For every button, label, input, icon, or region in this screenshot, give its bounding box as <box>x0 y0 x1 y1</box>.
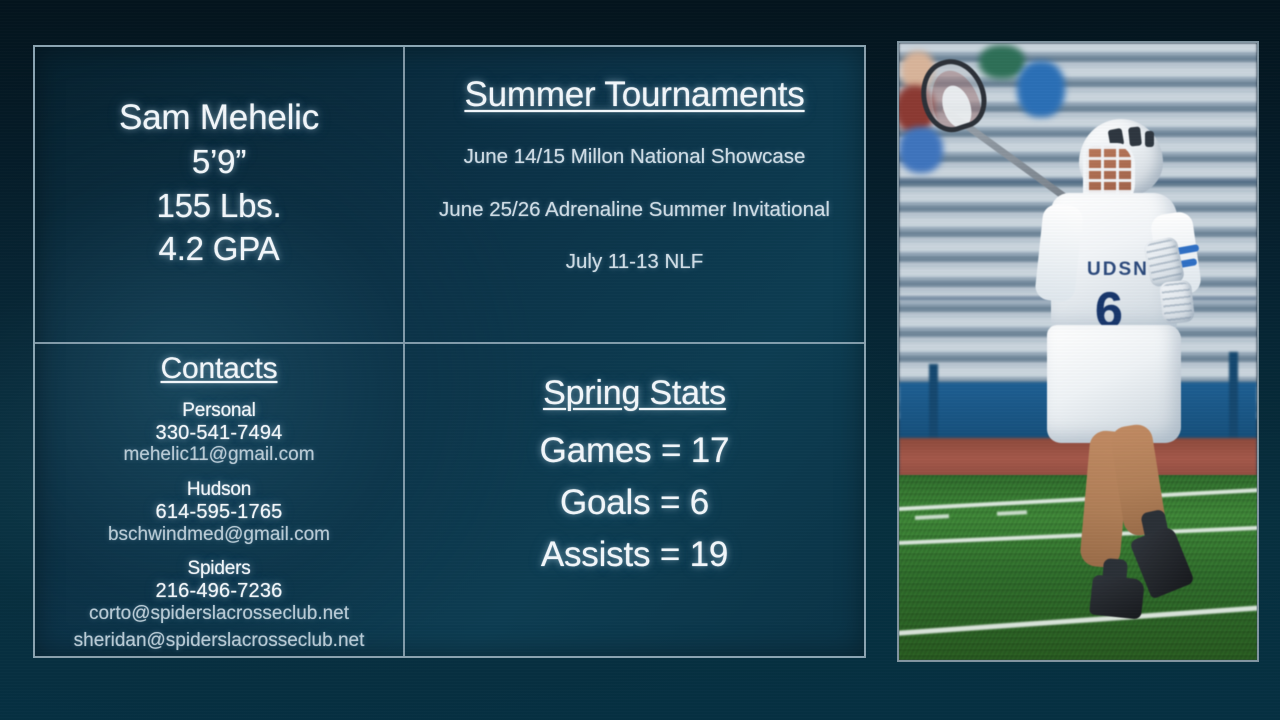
player-shorts <box>1047 325 1181 443</box>
contact-phone[interactable]: 216-496-7236 <box>89 580 349 603</box>
spectator-blur <box>1017 61 1065 117</box>
contact-label: Hudson <box>108 479 330 501</box>
stat-games: Games = 17 <box>540 425 730 477</box>
contact-email-secondary[interactable]: sheridan@spiderslacrosseclub.net <box>74 630 365 652</box>
contact-group-hudson: Hudson 614-595-1765 bschwindmed@gmail.co… <box>108 479 330 545</box>
glove-texture <box>1145 238 1183 285</box>
contact-group-spiders: Spiders 216-496-7236 corto@spiderslacros… <box>89 558 349 624</box>
highlight-slide: Sam Mehelic 5’9” 155 Lbs. 4.2 GPA Summer… <box>0 0 1280 720</box>
bleacher-rail <box>899 179 1257 184</box>
player-cleat-front <box>1089 574 1145 619</box>
contacts-panel: Contacts Personal 330-541-7494 mehelic11… <box>35 344 405 656</box>
tournament-item: July 11-13 NLF <box>566 250 703 275</box>
player-height: 5’9” <box>192 140 246 184</box>
contact-email[interactable]: bschwindmed@gmail.com <box>108 524 330 546</box>
helmet-vent <box>1145 131 1154 147</box>
turf-field <box>899 475 1257 660</box>
contact-group-personal: Personal 330-541-7494 mehelic11@gmail.co… <box>123 400 314 466</box>
contact-label: Personal <box>123 400 314 422</box>
player-weight: 155 Lbs. <box>156 184 281 228</box>
spring-stats-panel: Spring Stats Games = 17 Goals = 6 Assist… <box>405 344 864 656</box>
player-photo-frame: UDSN 6 <box>897 41 1259 662</box>
stat-assists: Assists = 19 <box>541 529 728 581</box>
contact-phone[interactable]: 330-541-7494 <box>123 422 314 445</box>
stat-goals: Goals = 6 <box>560 477 709 529</box>
player-name: Sam Mehelic <box>119 99 319 136</box>
tournament-item: June 14/15 Millon National Showcase <box>464 145 806 170</box>
spectator-blur <box>899 127 943 173</box>
contact-phone[interactable]: 614-595-1765 <box>108 501 330 524</box>
contacts-heading: Contacts <box>161 352 278 386</box>
tournament-item: June 25/26 Adrenaline Summer Invitationa… <box>439 198 830 223</box>
contact-email[interactable]: mehelic11@gmail.com <box>123 444 314 466</box>
contact-label: Spiders <box>89 558 349 580</box>
player-glove-bottom <box>1159 279 1195 324</box>
spectator-blur <box>979 45 1025 79</box>
turf-texture <box>899 475 1257 660</box>
glove-texture <box>1161 282 1193 323</box>
jersey-team-name: UDSN <box>1087 259 1149 281</box>
info-panel-grid: Sam Mehelic 5’9” 155 Lbs. 4.2 GPA Summer… <box>33 45 866 658</box>
player-gpa: 4.2 GPA <box>159 227 280 271</box>
contact-email[interactable]: corto@spiderslacrosseclub.net <box>89 603 349 625</box>
summer-tournaments-heading: Summer Tournaments <box>464 75 804 115</box>
player-action-photo: UDSN 6 <box>899 43 1257 660</box>
helmet-vent <box>1128 126 1142 146</box>
player-info-panel: Sam Mehelic 5’9” 155 Lbs. 4.2 GPA <box>35 47 405 344</box>
spring-stats-heading: Spring Stats <box>543 374 726 413</box>
summer-tournaments-panel: Summer Tournaments June 14/15 Millon Nat… <box>405 47 864 344</box>
